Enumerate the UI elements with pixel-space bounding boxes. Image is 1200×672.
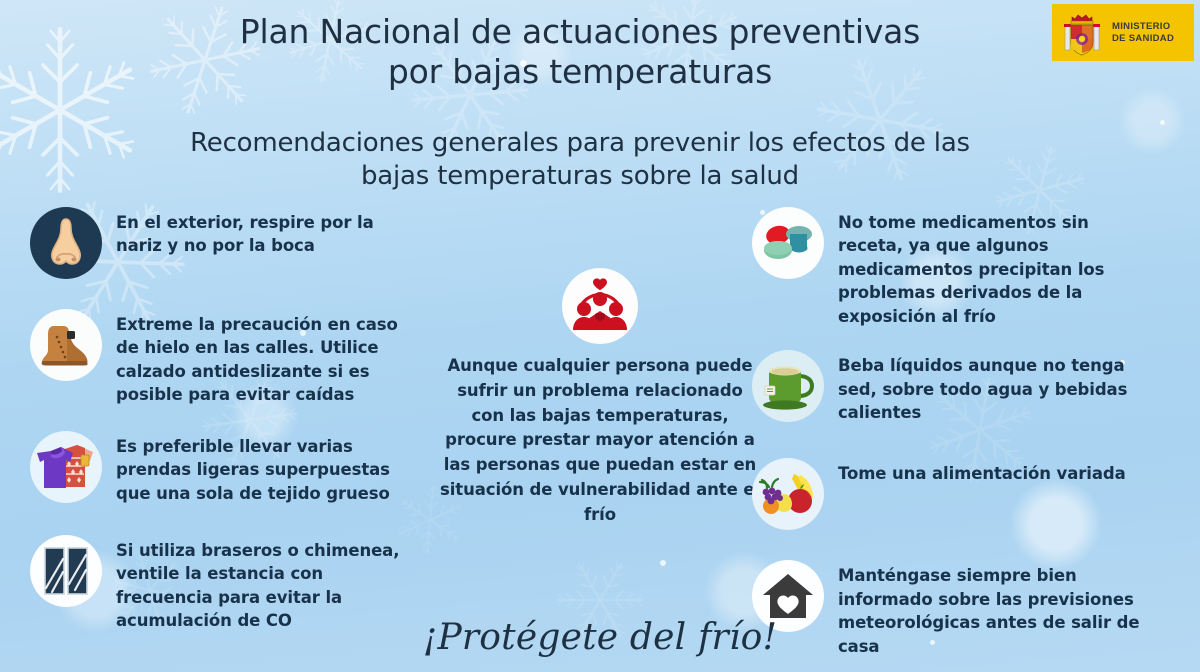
center-vulnerability-message: Aunque cualquier persona puede sufrir un… xyxy=(440,268,760,527)
tip-drink-warm-liquids: Beba líquidos aunque no tenga sed, sobre… xyxy=(752,350,1152,424)
group-of-people-heart-icon xyxy=(562,268,638,344)
hot-drink-mug-icon xyxy=(752,350,824,422)
nose-icon xyxy=(30,207,102,279)
footer-slogan: ¡Protégete del frío! xyxy=(0,617,1200,658)
tip-ice-non-slip-footwear: Extreme la precaución en caso de hielo e… xyxy=(30,309,430,407)
logo-text-block: MINISTERIO DE SANIDAD xyxy=(1112,21,1174,45)
winter-boot-icon xyxy=(30,309,102,381)
pills-medication-icon xyxy=(752,207,824,279)
tip-text: Beba líquidos aunque no tenga sed, sobre… xyxy=(838,350,1150,424)
sweaters-icon xyxy=(30,431,102,503)
tip-text: No tome medicamentos sin receta, ya que … xyxy=(838,207,1150,328)
ministerio-de-sanidad-logo: MINISTERIO DE SANIDAD xyxy=(1052,4,1194,61)
title-line-1: Plan Nacional de actuaciones preventivas xyxy=(120,12,1040,52)
fruit-basket-icon xyxy=(752,458,824,530)
poster-title: Plan Nacional de actuaciones preventivas… xyxy=(120,12,1040,93)
tip-text: Extreme la precaución en caso de hielo e… xyxy=(116,309,416,407)
tip-varied-diet: Tome una alimentación variada xyxy=(752,458,1152,530)
spain-coat-of-arms-icon xyxy=(1060,8,1104,58)
left-recommendations-column: En el exterior, respire por la nariz y n… xyxy=(30,207,430,655)
subtitle-line-2: bajas temperaturas sobre la salud xyxy=(120,160,1040,193)
center-text: Aunque cualquier persona puede sufrir un… xyxy=(440,354,760,527)
logo-line-2: DE SANIDAD xyxy=(1112,33,1174,45)
right-recommendations-column: No tome medicamentos sin receta, ya que … xyxy=(752,207,1152,672)
tip-breathe-through-nose: En el exterior, respire por la nariz y n… xyxy=(30,207,430,279)
window-ventilation-icon xyxy=(30,535,102,607)
tip-text: Tome una alimentación variada xyxy=(838,458,1150,485)
tip-no-self-medication: No tome medicamentos sin receta, ya que … xyxy=(752,207,1152,328)
tip-layered-clothing: Es preferible llevar varias prendas lige… xyxy=(30,431,430,505)
infographic-poster: MINISTERIO DE SANIDAD Plan Nacional de a… xyxy=(0,0,1200,672)
tip-text: Es preferible llevar varias prendas lige… xyxy=(116,431,416,505)
subtitle-line-1: Recomendaciones generales para prevenir … xyxy=(120,127,1040,160)
logo-line-1: MINISTERIO xyxy=(1112,21,1174,33)
title-line-2: por bajas temperaturas xyxy=(120,52,1040,92)
tip-text: En el exterior, respire por la nariz y n… xyxy=(116,207,416,258)
poster-subtitle: Recomendaciones generales para prevenir … xyxy=(120,127,1040,194)
